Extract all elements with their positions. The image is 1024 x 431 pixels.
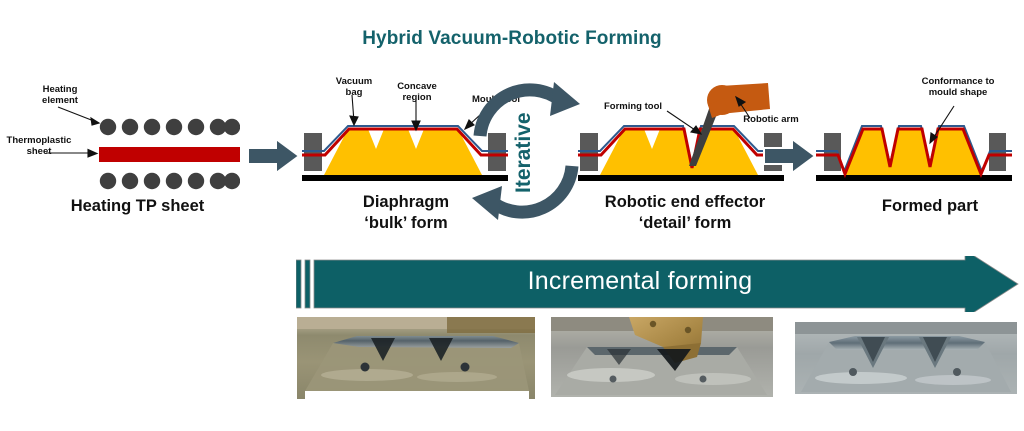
flow-arrow-1 [246,136,302,176]
iterative-label: Iterative [512,112,536,193]
amber-body [324,129,482,175]
caption-formed: Formed part [850,196,1010,217]
heater-dots-top [100,119,240,135]
label-thermoplastic-sheet: Thermoplastic sheet [0,135,82,157]
label-vacuum-bag: Vacuum bag [324,76,384,98]
incremental-forming-label: Incremental forming [300,267,980,296]
robotic-arm-body [720,83,770,114]
stage-heating: Heating element Thermoplastic sheet [0,85,240,195]
label-concave-region: Concave region [386,81,448,103]
stage-formed: Conformance to mould shape [806,78,1022,188]
photo-bulk-formed-part [297,317,535,399]
caption-diaphragm: Diaphragm ‘bulk’ form [336,192,476,233]
stage-robotic: Forming tool Robotic arm [572,78,792,188]
robotic-schematic [572,78,792,188]
label-heating-element: Heating element [24,84,96,106]
amber-body [844,129,982,175]
label-conformance: Conformance to mould shape [912,76,1004,98]
thermoplastic-bar [99,147,240,162]
photo-tool-pressing [551,317,773,405]
base-plate [578,175,784,181]
label-forming-tool: Forming tool [594,101,672,112]
caption-robotic: Robotic end effector ‘detail’ form [590,192,780,233]
label-robotic-arm: Robotic arm [734,114,808,125]
caption-heating: Heating TP sheet [25,196,250,217]
page-title: Hybrid Vacuum-Robotic Forming [0,28,1024,50]
amber-body [600,129,758,175]
photo-final-part [795,322,1017,402]
heater-dots-bottom [100,173,240,189]
